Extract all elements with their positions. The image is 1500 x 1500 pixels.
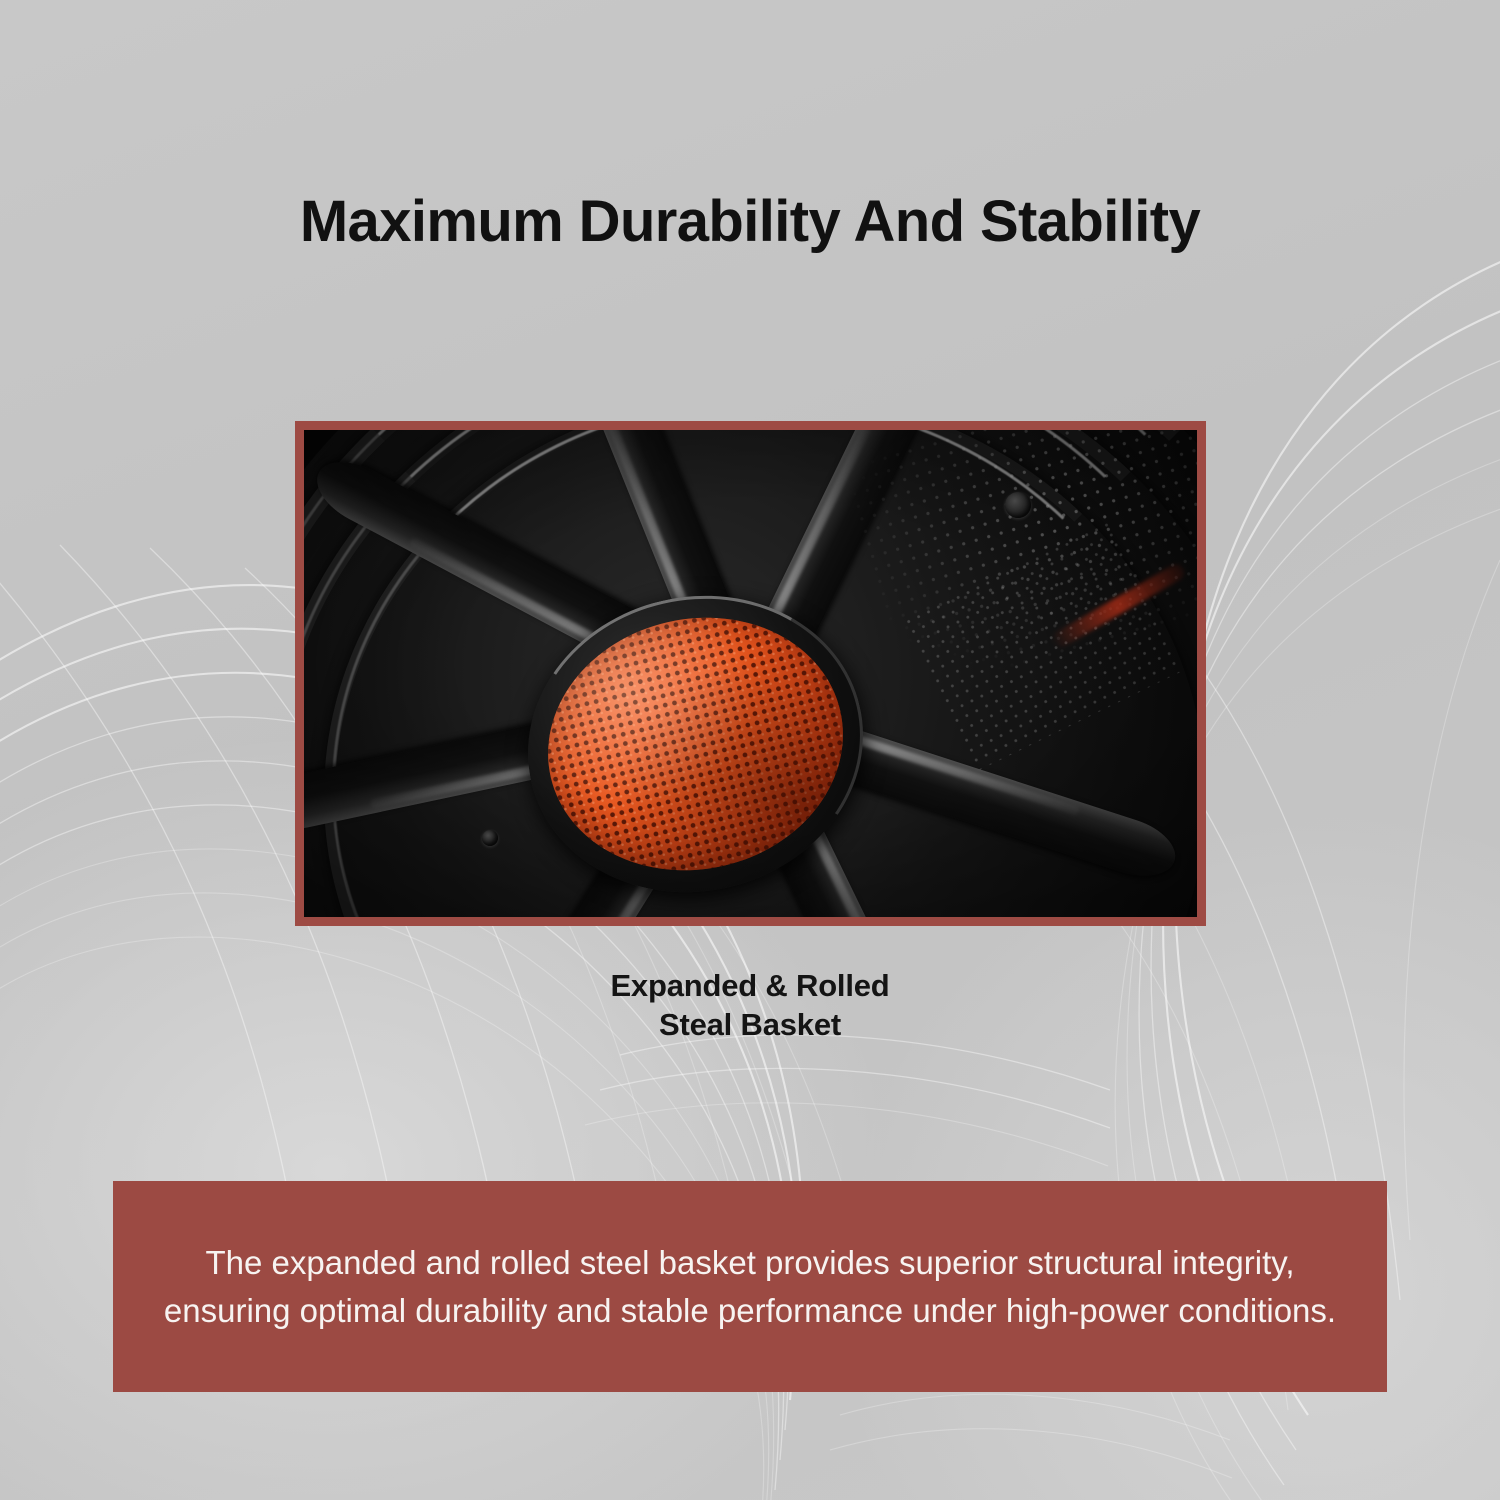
caption-line-1: Expanded & Rolled [0, 966, 1500, 1005]
caption-line-2: Steal Basket [0, 1005, 1500, 1044]
speaker-photo [304, 430, 1197, 917]
page-title: Maximum Durability And Stability [0, 189, 1500, 255]
description-text: The expanded and rolled steel basket pro… [115, 1239, 1385, 1335]
feature-image-frame [295, 421, 1206, 926]
mounting-screw-icon [1005, 492, 1031, 518]
feature-infographic-page: Maximum Durability And Stability [0, 0, 1500, 1500]
mounting-screw-icon [482, 830, 498, 846]
image-caption: Expanded & Rolled Steal Basket [0, 966, 1500, 1044]
description-banner: The expanded and rolled steel basket pro… [113, 1181, 1387, 1392]
